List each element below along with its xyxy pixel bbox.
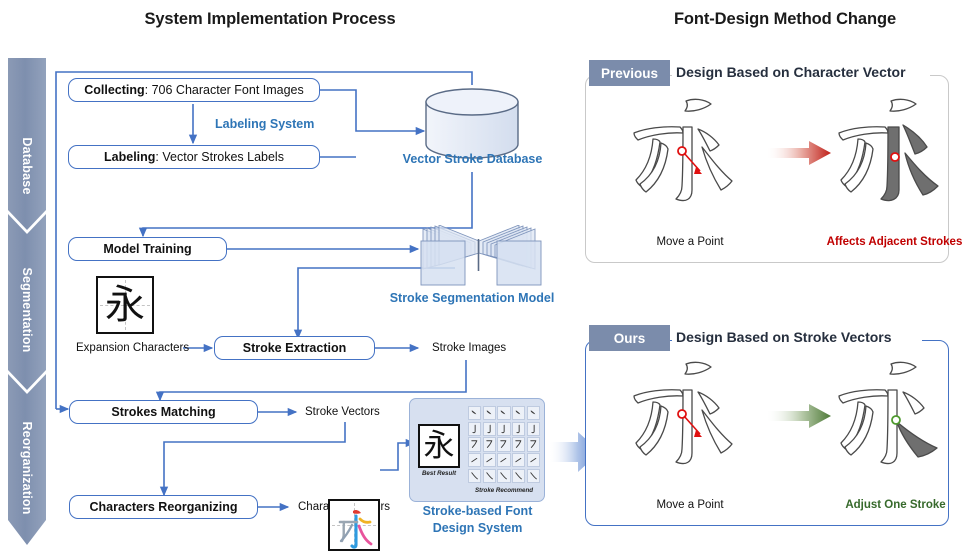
phase-label-reorganization: Reorganization	[20, 421, 34, 514]
stroke-dian-icon	[498, 407, 509, 419]
label-vector-stroke-database: Vector Stroke Database	[400, 152, 545, 166]
box-characters-reorganizing-label: Characters Reorganizing	[90, 500, 238, 514]
rec-cell[interactable]	[512, 469, 525, 483]
box-collecting-rest: : 706 Character Font Images	[145, 83, 304, 97]
vector-stroke-database-icon	[424, 88, 520, 160]
ours-after-glyph	[825, 358, 965, 473]
rec-cell[interactable]	[497, 453, 510, 467]
expansion-character-glyph: 永	[98, 278, 152, 332]
stroke-hengpie-icon	[528, 438, 539, 450]
rec-cell[interactable]	[497, 422, 510, 436]
box-labeling-lead: Labeling	[104, 150, 155, 164]
rec-cell[interactable]	[527, 422, 540, 436]
expansion-character-tile: 永	[96, 276, 154, 334]
stroke-hengpie-icon	[513, 438, 524, 450]
outline-character-before-ours	[620, 358, 760, 473]
rec-cell[interactable]	[527, 469, 540, 483]
label-expansion-characters: Expansion Characters	[76, 342, 189, 354]
stroke-na-icon	[469, 470, 480, 482]
rec-cell[interactable]	[512, 422, 525, 436]
previous-before-glyph	[620, 95, 760, 210]
label-stroke-vectors: Stroke Vectors	[305, 406, 380, 418]
stroke-hengpie-icon	[469, 438, 480, 450]
stroke-dian-icon	[469, 407, 480, 419]
outline-character-after-ours	[825, 358, 965, 473]
rec-cell[interactable]	[468, 422, 481, 436]
character-vectors-tile	[328, 499, 380, 551]
badge-previous: Previous	[589, 60, 670, 86]
box-labeling[interactable]: Labeling: Vector Strokes Labels	[68, 145, 320, 169]
box-stroke-extraction[interactable]: Stroke Extraction	[214, 336, 375, 360]
design-system-title-line2: Design System	[400, 521, 555, 535]
box-characters-reorganizing[interactable]: Characters Reorganizing	[69, 495, 258, 519]
caption-previous-left: Move a Point	[620, 236, 760, 248]
phase-label-segmentation: Segmentation	[20, 267, 34, 352]
stroke-shugou-icon	[498, 423, 509, 435]
stroke-ti-icon	[513, 454, 524, 466]
badge-ours: Ours	[589, 325, 670, 351]
box-collecting[interactable]: Collecting: 706 Character Font Images	[68, 78, 320, 102]
rec-cell[interactable]	[512, 406, 525, 420]
page-title-right: Font-Design Method Change	[625, 10, 945, 29]
stroke-dian-icon	[513, 407, 524, 419]
label-labeling-system: Labeling System	[215, 117, 314, 131]
colored-strokes-glyph	[330, 501, 380, 551]
heading-previous: Design Based on Character Vector	[676, 64, 906, 80]
rec-cell[interactable]	[483, 469, 496, 483]
rec-cell[interactable]	[512, 453, 525, 467]
rec-cell[interactable]	[468, 469, 481, 483]
best-result-glyph: 永	[420, 426, 458, 466]
box-strokes-matching[interactable]: Strokes Matching	[69, 400, 258, 424]
rec-cell[interactable]	[483, 437, 496, 451]
stroke-na-icon	[528, 470, 539, 482]
stroke-ti-icon	[498, 454, 509, 466]
rec-cell[interactable]	[527, 453, 540, 467]
outline-character-before	[620, 95, 760, 210]
phase-arrow: Database Segmentation Reorganization	[8, 58, 46, 545]
stroke-na-icon	[513, 470, 524, 482]
stroke-based-font-design-system-panel: 永 Best Result Stroke Recommend	[409, 398, 545, 502]
previous-after-glyph	[825, 95, 965, 210]
best-result-caption: Best Result	[414, 470, 464, 477]
rec-cell[interactable]	[497, 437, 510, 451]
heading-ours: Design Based on Stroke Vectors	[676, 329, 892, 345]
rec-cell[interactable]	[527, 406, 540, 420]
design-system-title-line1: Stroke-based Font	[400, 504, 555, 518]
box-model-training[interactable]: Model Training	[68, 237, 227, 261]
ours-before-glyph	[620, 358, 760, 473]
cv-guide-horizontal	[332, 525, 376, 526]
best-result-box: 永	[418, 424, 460, 468]
stroke-na-icon	[498, 470, 509, 482]
stroke-shugou-icon	[469, 423, 480, 435]
label-stroke-images: Stroke Images	[432, 342, 506, 354]
stroke-dian-icon	[528, 407, 539, 419]
box-collecting-lead: Collecting	[84, 83, 144, 97]
phase-label-database: Database	[20, 137, 34, 194]
box-strokes-matching-label: Strokes Matching	[111, 405, 215, 419]
stroke-hengpie-icon	[484, 438, 495, 450]
box-stroke-extraction-label: Stroke Extraction	[243, 341, 347, 355]
stroke-shugou-icon	[513, 423, 524, 435]
rec-cell[interactable]	[497, 406, 510, 420]
rec-cell[interactable]	[468, 453, 481, 467]
layers-shape	[415, 225, 545, 290]
stroke-segmentation-model-icon	[415, 225, 545, 290]
rec-cell[interactable]	[483, 453, 496, 467]
box-labeling-rest: : Vector Strokes Labels	[155, 150, 284, 164]
rec-cell[interactable]	[527, 437, 540, 451]
stroke-hengpie-icon	[498, 438, 509, 450]
stroke-shugou-icon	[484, 423, 495, 435]
stroke-shugou-icon	[528, 423, 539, 435]
outline-character-after	[825, 95, 965, 210]
stroke-recommend-caption: Stroke Recommend	[466, 487, 542, 494]
stroke-dian-icon	[484, 407, 495, 419]
stroke-ti-icon	[469, 454, 480, 466]
cylinder-shape	[424, 88, 520, 160]
stroke-na-icon	[484, 470, 495, 482]
rec-cell[interactable]	[468, 406, 481, 420]
stroke-recommend-grid[interactable]	[468, 406, 540, 483]
rec-cell[interactable]	[468, 437, 481, 451]
box-model-training-label: Model Training	[103, 242, 191, 256]
stroke-ti-icon	[484, 454, 495, 466]
caption-previous-right: Affects Adjacent Strokes	[812, 236, 970, 248]
caption-ours-right: Adjust One Stroke	[818, 499, 970, 511]
page-title-left: System Implementation Process	[120, 10, 420, 29]
label-stroke-segmentation-model: Stroke Segmentation Model	[382, 291, 562, 305]
rec-cell[interactable]	[483, 406, 496, 420]
caption-ours-left: Move a Point	[620, 499, 760, 511]
rec-cell[interactable]	[512, 437, 525, 451]
stroke-ti-icon	[528, 454, 539, 466]
rec-cell[interactable]	[483, 422, 496, 436]
rec-cell[interactable]	[497, 469, 510, 483]
